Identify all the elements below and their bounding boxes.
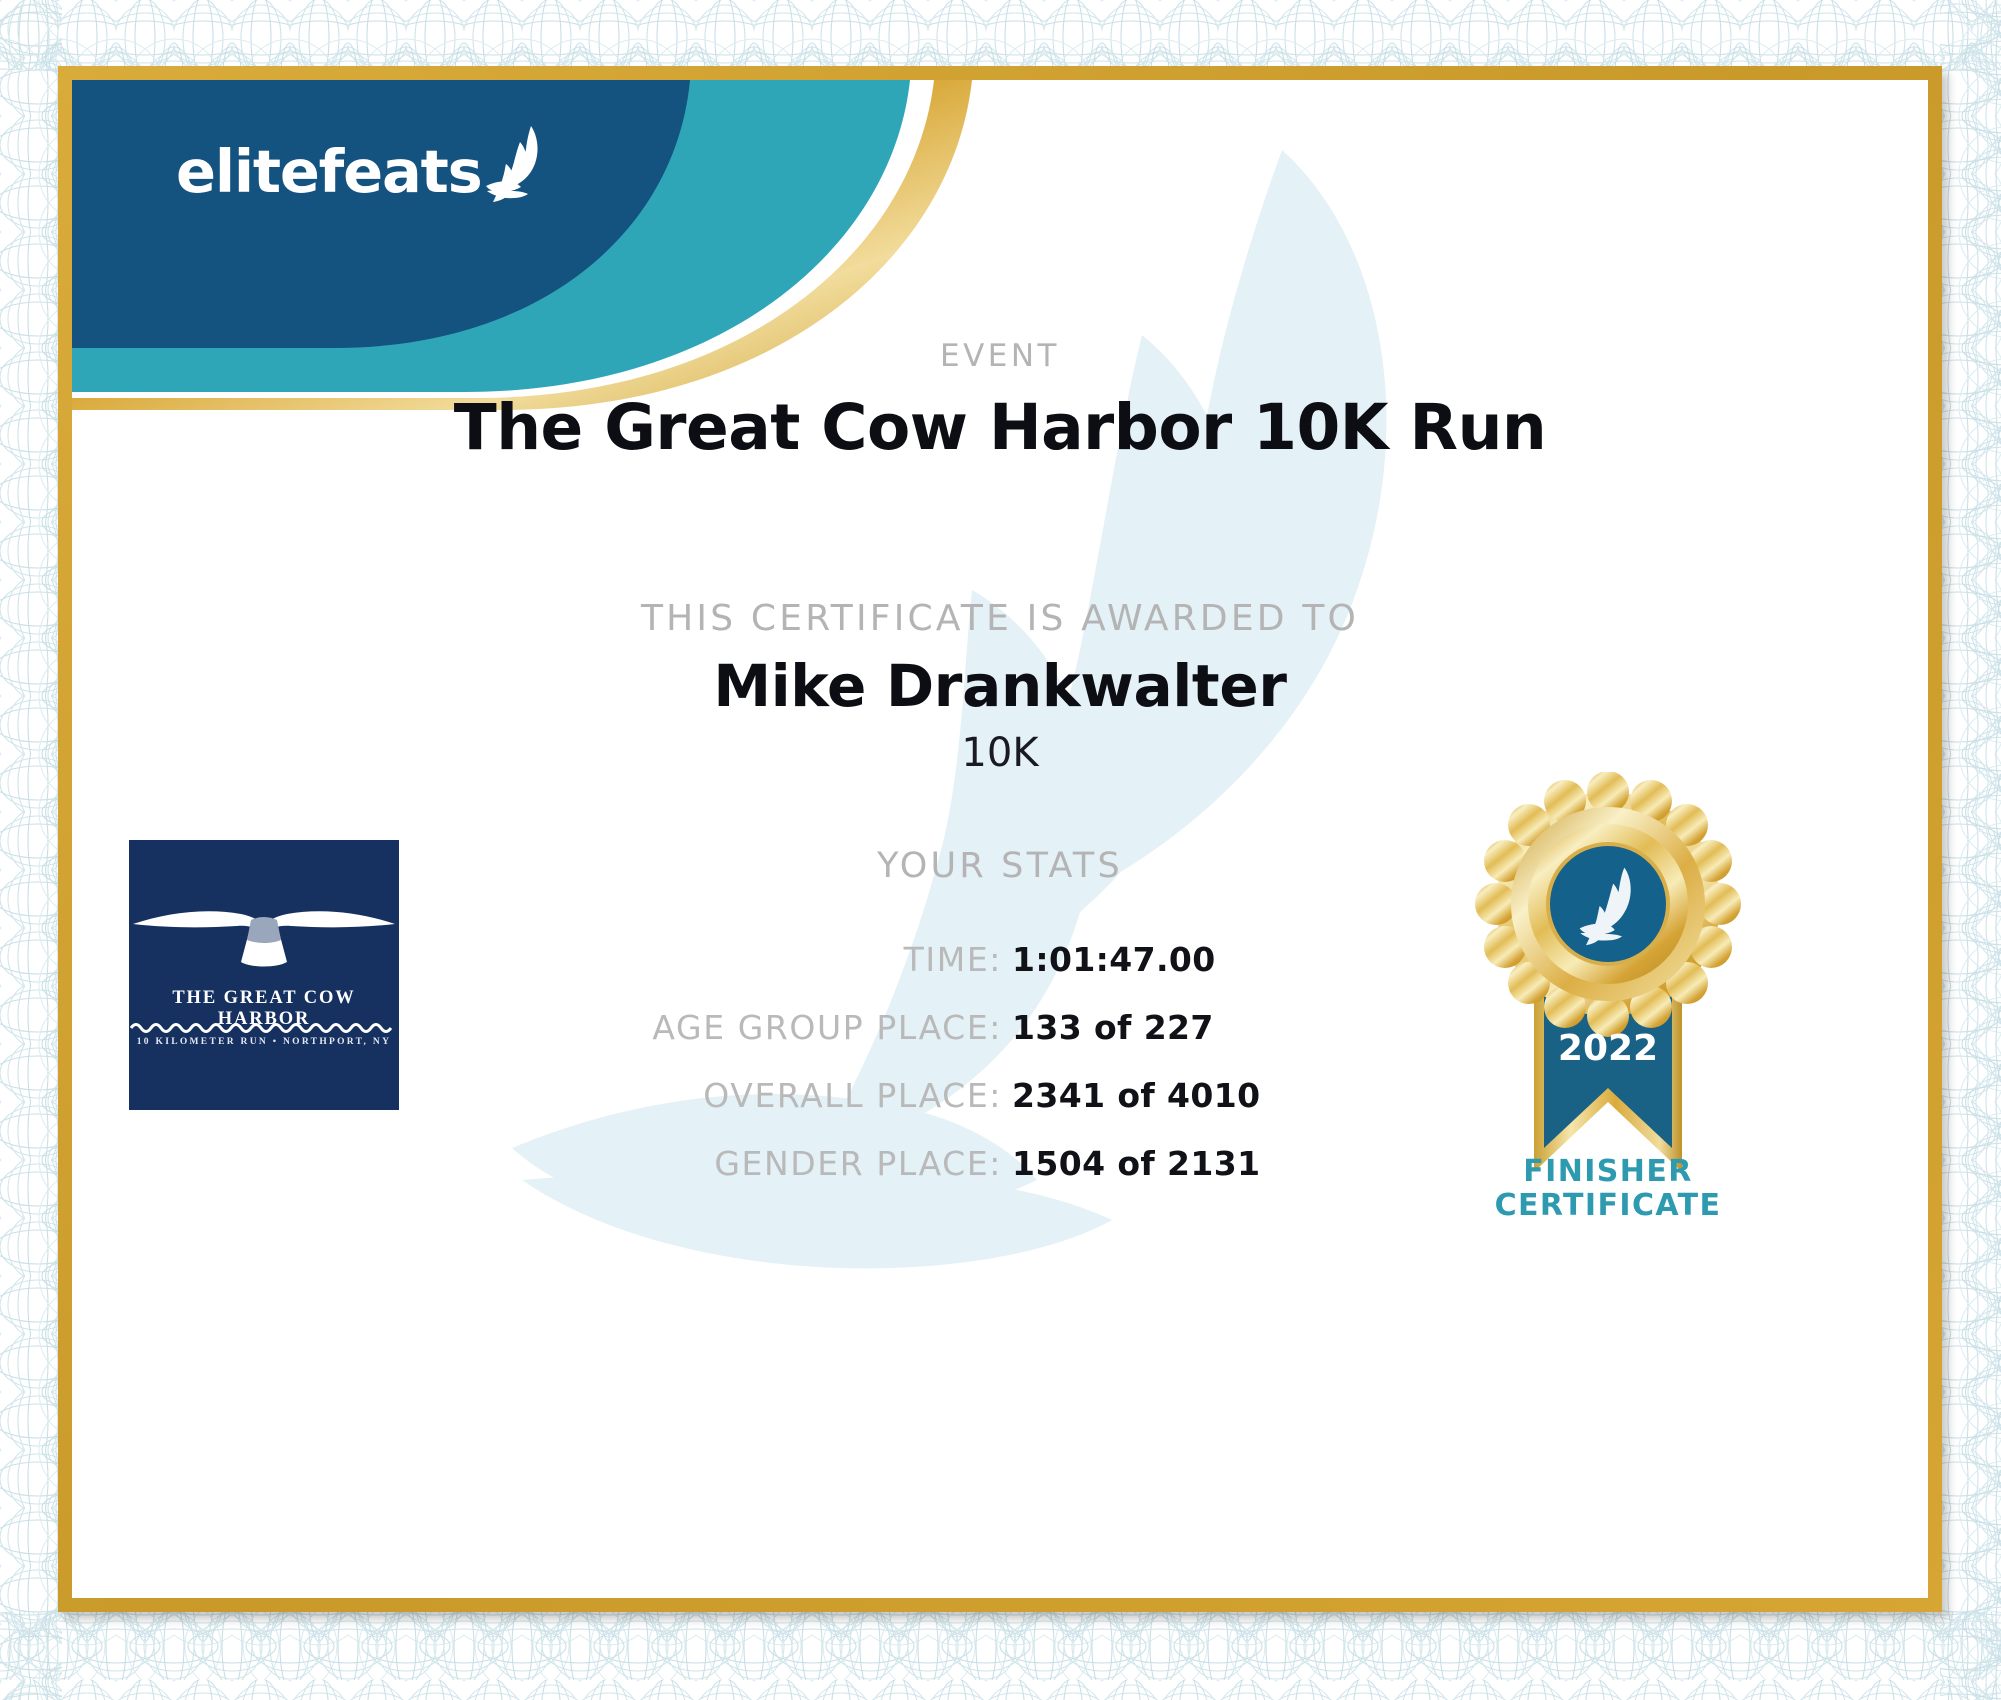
certificate-body: elitefeats EVENT The Great Cow Harbor 10… [72, 80, 1928, 1598]
finisher-certificate-caption: FINISHER CERTIFICATE [1428, 1155, 1788, 1222]
wave-divider-icon [129, 1020, 399, 1034]
recipient-name: Mike Drankwalter [72, 652, 1928, 720]
certificate-page: elitefeats EVENT The Great Cow Harbor 10… [0, 0, 2001, 1700]
event-logo: THE GREAT COW HARBOR 10 KILOMETER RUN • … [129, 840, 399, 1110]
award-medal-icon: 2022 [1458, 772, 1758, 1192]
finisher-line-2: CERTIFICATE [1495, 1188, 1722, 1223]
stat-label: GENDER PLACE: [72, 1129, 1012, 1197]
event-logo-subtitle: 10 KILOMETER RUN • NORTHPORT, NY [129, 1037, 399, 1047]
event-title: The Great Cow Harbor 10K Run [72, 391, 1928, 464]
badge-year: 2022 [1558, 1028, 1658, 1069]
recipient-division: 10K [72, 730, 1928, 776]
event-label: EVENT [72, 338, 1928, 374]
finisher-line-1: FINISHER [1523, 1154, 1692, 1189]
awarded-to-label: THIS CERTIFICATE IS AWARDED TO [72, 598, 1928, 639]
